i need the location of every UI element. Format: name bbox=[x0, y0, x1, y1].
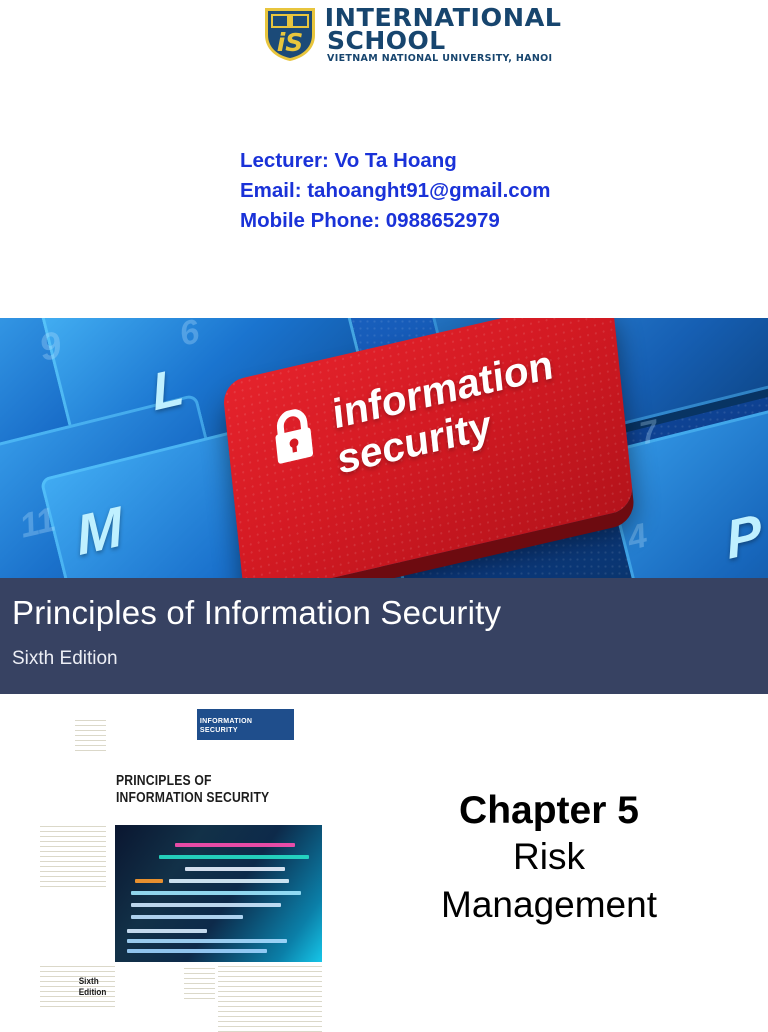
cover-code-photo bbox=[115, 825, 322, 962]
cover-title-line-1: PRINCIPLES OF bbox=[116, 773, 269, 790]
cover-tile bbox=[75, 718, 106, 751]
hero-keyboard-image: 9 6 8 7 11 4 E4 F4 L M P information sec… bbox=[0, 318, 768, 578]
chapter-title-line-2: Management bbox=[441, 880, 657, 930]
svg-text:iS: iS bbox=[277, 28, 304, 57]
cover-tile bbox=[150, 1002, 181, 1032]
content-section: INFORMATION SECURITY PRINCIPLES OF INFOR… bbox=[0, 694, 768, 1024]
chapter-number: Chapter 5 bbox=[459, 788, 639, 834]
university-logo: iS INTERNATIONAL SCHOOL VIETNAM NATIONAL… bbox=[262, 4, 592, 64]
chapter-title-line-1: Risk bbox=[513, 834, 585, 880]
edition-subtitle: Sixth Edition bbox=[12, 648, 118, 670]
cover-edition-label: Sixth Edition bbox=[79, 976, 113, 998]
cover-tile bbox=[75, 755, 106, 785]
page-title: Principles of Information Security bbox=[12, 594, 501, 632]
logo-line-international: INTERNATIONAL bbox=[325, 5, 562, 30]
cover-tile bbox=[218, 966, 322, 1032]
lecturer-info: Lecturer: Vo Ta Hoang Email: tahoanght91… bbox=[240, 146, 550, 236]
keycap-letter-m: M bbox=[73, 493, 126, 568]
cover-title-line-2: INFORMATION SECURITY bbox=[116, 790, 269, 807]
header-section: iS INTERNATIONAL SCHOOL VIETNAM NATIONAL… bbox=[0, 0, 768, 318]
cover-edition-tile: Sixth Edition bbox=[40, 966, 115, 1007]
cover-tile bbox=[116, 966, 147, 999]
shield-icon: iS bbox=[262, 5, 318, 63]
cover-tile bbox=[184, 966, 215, 999]
cover-tile bbox=[150, 966, 181, 999]
padlock-icon bbox=[269, 405, 317, 467]
book-title-banner: Principles of Information Security Sixth… bbox=[0, 578, 768, 694]
cover-tile bbox=[40, 823, 106, 887]
lecturer-mobile: Mobile Phone: 0988652979 bbox=[240, 206, 550, 236]
cover-tile bbox=[116, 1002, 147, 1032]
cover-title: PRINCIPLES OF INFORMATION SECURITY bbox=[116, 773, 269, 807]
cover-tile bbox=[75, 928, 106, 958]
cover-tile bbox=[75, 891, 106, 924]
cover-tile bbox=[75, 789, 106, 819]
cover-banner-label: INFORMATION SECURITY bbox=[200, 716, 291, 734]
lecturer-name: Lecturer: Vo Ta Hoang bbox=[240, 146, 550, 176]
lecturer-email: Email: tahoanght91@gmail.com bbox=[240, 176, 550, 206]
logo-line-university: VIETNAM NATIONAL UNIVERSITY, HANOI bbox=[327, 54, 559, 64]
book-cover-image: INFORMATION SECURITY PRINCIPLES OF INFOR… bbox=[18, 702, 318, 1024]
cover-banner: INFORMATION SECURITY bbox=[197, 709, 294, 740]
chapter-heading: Chapter 5 Risk Management bbox=[330, 694, 768, 1024]
keycap-letter-p: P bbox=[723, 502, 766, 572]
cover-tile bbox=[184, 1002, 215, 1032]
